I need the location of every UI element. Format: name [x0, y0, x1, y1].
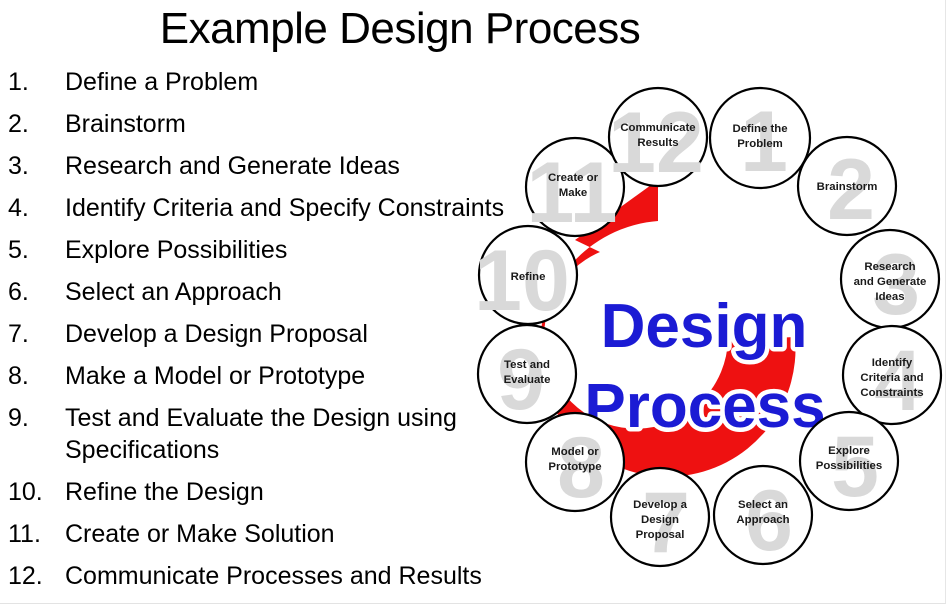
cycle-node-12[interactable]: 12 Communicate Results — [608, 88, 707, 191]
center-title-line1: Design — [601, 292, 808, 361]
list-item: 11. Create or Make Solution — [0, 518, 520, 550]
cycle-node-1-label-line2: Problem — [737, 138, 783, 150]
list-item-label: Explore Possibilities — [65, 234, 520, 266]
list-item: 9. Test and Evaluate the Design using Sp… — [0, 402, 520, 466]
cycle-node-4-label-line1: Identify — [872, 357, 913, 369]
list-item-label: Identify Criteria and Specify Constraint… — [65, 192, 520, 224]
cycle-node-8-label-line1: Model or — [551, 446, 599, 458]
list-item: 10. Refine the Design — [0, 476, 520, 508]
list-item: 8. Make a Model or Prototype — [0, 360, 520, 392]
cycle-node-1-label-line1: Define the — [732, 123, 787, 135]
cycle-node-3-label-line2: and Generate — [854, 276, 927, 288]
list-item-number: 8. — [8, 360, 56, 392]
list-item-number: 2. — [8, 108, 56, 140]
list-item-number: 12. — [8, 560, 56, 592]
cycle-node-7-label-line2: Design — [641, 514, 679, 526]
cycle-node-7[interactable]: 7 Develop a Design Proposal — [611, 468, 709, 571]
list-item: 1. Define a Problem — [0, 66, 520, 98]
cycle-node-5-label-line1: Explore — [828, 445, 870, 457]
list-item: 12. Communicate Processes and Results — [0, 560, 520, 592]
cycle-node-12-label-line1: Communicate — [620, 122, 695, 134]
list-item-number: 5. — [8, 234, 56, 266]
list-item-label: Refine the Design — [65, 476, 520, 508]
cycle-node-9-label-line1: Test and — [504, 359, 550, 371]
cycle-node-5-label-line2: Possibilities — [816, 460, 882, 472]
cycle-node-6-label-line2: Approach — [736, 514, 789, 526]
list-item-number: 9. — [8, 402, 56, 434]
cycle-node-8-label-line2: Prototype — [548, 461, 601, 473]
cycle-node-10[interactable]: 10 Refine — [474, 226, 577, 329]
cycle-node-2[interactable]: 2 Brainstorm — [798, 137, 896, 238]
cycle-node-6-label-line1: Select an — [738, 499, 788, 511]
design-process-cycle-diagram: Design Design Design Process Process Pro… — [460, 80, 946, 600]
list-item: 2. Brainstorm — [0, 108, 520, 140]
cycle-node-3-label-line1: Research — [864, 261, 915, 273]
cycle-node-9-label-line2: Evaluate — [504, 374, 551, 386]
list-item-label: Communicate Processes and Results — [65, 560, 520, 592]
list-item-label: Test and Evaluate the Design using Speci… — [65, 402, 520, 466]
list-item: 6. Select an Approach — [0, 276, 520, 308]
list-item: 3. Research and Generate Ideas — [0, 150, 520, 182]
cycle-node-5[interactable]: 5 Explore Possibilities — [800, 412, 898, 515]
cycle-node-1[interactable]: 1 Define the Problem — [710, 88, 810, 190]
list-item-label: Define a Problem — [65, 66, 520, 98]
cycle-node-11-label-line2: Make — [559, 187, 588, 199]
cycle-node-6[interactable]: 6 Select an Approach — [714, 466, 812, 569]
list-item-number: 10. — [8, 476, 56, 508]
list-item-label: Develop a Design Proposal — [65, 318, 520, 350]
cycle-node-3-label-line3: Ideas — [875, 291, 904, 303]
page-title: Example Design Process — [0, 4, 800, 54]
design-process-slide: Example Design Process 1. Define a Probl… — [0, 0, 946, 604]
cycle-node-2-label-line1: Brainstorm — [817, 181, 878, 193]
list-item-number: 11. — [8, 518, 56, 550]
list-item-number: 1. — [8, 66, 56, 98]
cycle-node-11-label-line1: Create or — [548, 172, 599, 184]
list-item: 7. Develop a Design Proposal — [0, 318, 520, 350]
cycle-node-10-label-line1: Refine — [511, 271, 546, 283]
list-item: 4. Identify Criteria and Specify Constra… — [0, 192, 520, 224]
cycle-node-3[interactable]: 3 Research and Generate Ideas — [841, 230, 939, 333]
design-steps-list: 1. Define a Problem 2. Brainstorm 3. Res… — [0, 66, 520, 602]
cycle-node-4-label-line3: Constraints — [860, 387, 923, 399]
list-item: 5. Explore Possibilities — [0, 234, 520, 266]
list-item-number: 4. — [8, 192, 56, 224]
list-item-label: Research and Generate Ideas — [65, 150, 520, 182]
cycle-node-8[interactable]: 8 Model or Prototype — [526, 413, 624, 516]
cycle-node-7-label-line3: Proposal — [636, 529, 685, 541]
center-title-line2: Process — [584, 372, 825, 441]
list-item-number: 7. — [8, 318, 56, 350]
cycle-node-4-label-line2: Criteria and — [860, 372, 923, 384]
cycle-node-7-label-line1: Develop a — [633, 499, 687, 511]
list-item-label: Make a Model or Prototype — [65, 360, 520, 392]
list-item-number: 6. — [8, 276, 56, 308]
list-item-label: Brainstorm — [65, 108, 520, 140]
list-item-number: 3. — [8, 150, 56, 182]
list-item-label: Create or Make Solution — [65, 518, 520, 550]
list-item-label: Select an Approach — [65, 276, 520, 308]
cycle-node-12-label-line2: Results — [637, 137, 678, 149]
